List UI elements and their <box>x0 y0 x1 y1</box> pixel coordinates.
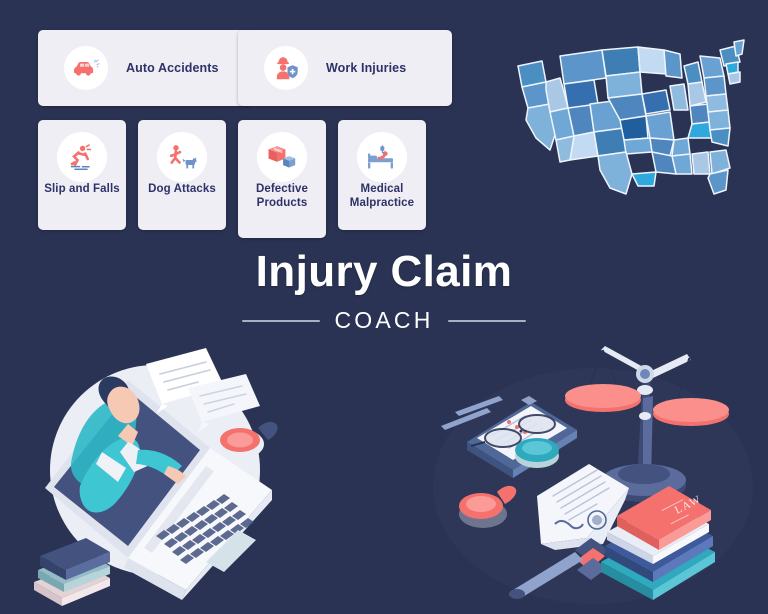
practice-card-label: Defective Products <box>238 182 326 210</box>
practice-card-label: Auto Accidents <box>126 61 219 75</box>
stamp-pad <box>515 438 559 468</box>
worker-shield-icon <box>264 46 308 90</box>
hospital-bed-icon <box>357 132 407 182</box>
slip-fall-icon <box>57 132 107 182</box>
brand-title: Injury Claim <box>0 250 768 294</box>
divider-left <box>242 320 320 322</box>
practice-card-label: Medical Malpractice <box>338 182 426 210</box>
united-states-map <box>498 28 748 206</box>
book-stack <box>34 538 110 606</box>
brand-subtitle-row: COACH <box>0 307 768 334</box>
practice-card-work-injuries[interactable]: Work Injuries <box>238 30 452 106</box>
divider-right <box>448 320 526 322</box>
dog-attack-icon <box>157 132 207 182</box>
boxes-icon <box>257 132 307 182</box>
brand-block: Injury Claim COACH <box>0 250 768 334</box>
practice-card-label: Slip and Falls <box>38 182 126 196</box>
legal-desk-illustration: LAW <box>425 338 745 600</box>
practice-card-slip-and-falls[interactable]: Slip and Falls <box>38 120 126 230</box>
practice-card-label: Work Injuries <box>326 61 406 75</box>
practice-card-auto-accidents[interactable]: Auto Accidents <box>38 30 252 106</box>
practice-card-medical-malpractice[interactable]: Medical Malpractice <box>338 120 426 230</box>
lawyer-laptop-illustration <box>10 340 300 614</box>
practice-card-dog-attacks[interactable]: Dog Attacks <box>138 120 226 230</box>
practice-card-defective-products[interactable]: Defective Products <box>238 120 326 238</box>
brand-subtitle: COACH <box>334 307 433 334</box>
car-crash-icon <box>64 46 108 90</box>
practice-card-label: Dog Attacks <box>138 182 226 196</box>
page-root: Auto Accidents Work Injuries <box>0 0 768 614</box>
